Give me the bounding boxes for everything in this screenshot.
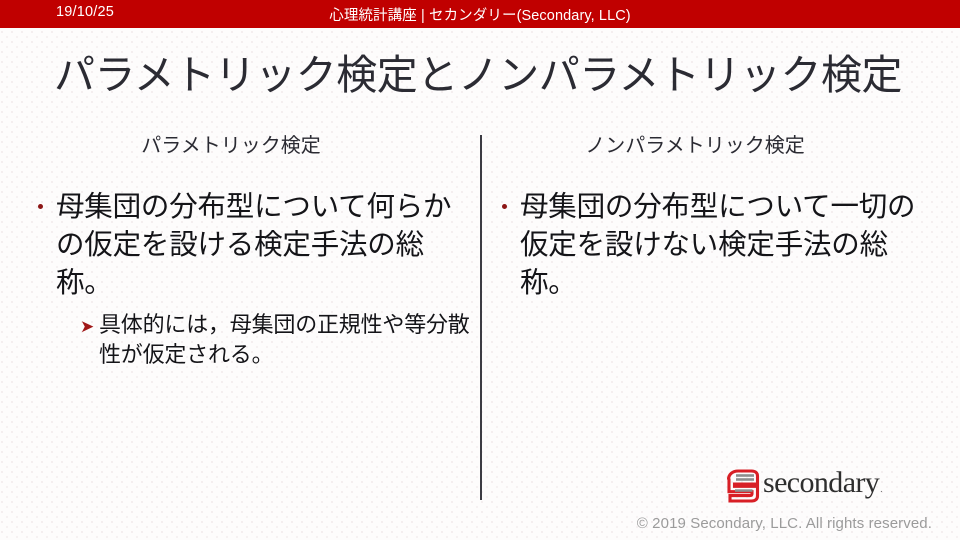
right-column-heading: ノンパラメトリック検定 (490, 132, 940, 160)
arrow-right-icon: ➤ (80, 312, 94, 341)
left-bullet-text: 母集団の分布型について何らかの仮定を設ける検定手法の総称。 (56, 188, 472, 302)
left-column-heading: パラメトリック検定 (26, 132, 472, 160)
left-bullet-item: 母集団の分布型について何らかの仮定を設ける検定手法の総称。 (26, 188, 472, 302)
bullet-dot-icon (38, 204, 43, 209)
secondary-wordmark: secondary. (763, 468, 882, 504)
header-course-title: 心理統計講座 | セカンダリー(Secondary, LLC) (0, 4, 960, 25)
slide-canvas: 19/10/25 心理統計講座 | セカンダリー(Secondary, LLC)… (0, 0, 960, 540)
right-column: ノンパラメトリック検定 母集団の分布型について一切の仮定を設けない検定手法の総称… (490, 132, 940, 302)
slide-title: パラメトリック検定とノンパラメトリック検定 (54, 50, 902, 100)
column-divider (480, 135, 482, 500)
secondary-logomark-icon (724, 468, 760, 504)
left-column: パラメトリック検定 母集団の分布型について何らかの仮定を設ける検定手法の総称。 … (26, 132, 472, 370)
bullet-dot-icon (502, 204, 507, 209)
registered-mark: . (880, 484, 882, 494)
secondary-logo: secondary. (724, 466, 882, 506)
left-subbullet-text: 具体的には，母集団の正規性や等分散性が仮定される。 (99, 310, 472, 370)
copyright-text: © 2019 Secondary, LLC. All rights reserv… (637, 515, 932, 532)
right-bullet-text: 母集団の分布型について一切の仮定を設けない検定手法の総称。 (520, 188, 940, 302)
left-subbullet-item: ➤ 具体的には，母集団の正規性や等分散性が仮定される。 (26, 310, 472, 370)
right-bullet-item: 母集団の分布型について一切の仮定を設けない検定手法の総称。 (490, 188, 940, 302)
